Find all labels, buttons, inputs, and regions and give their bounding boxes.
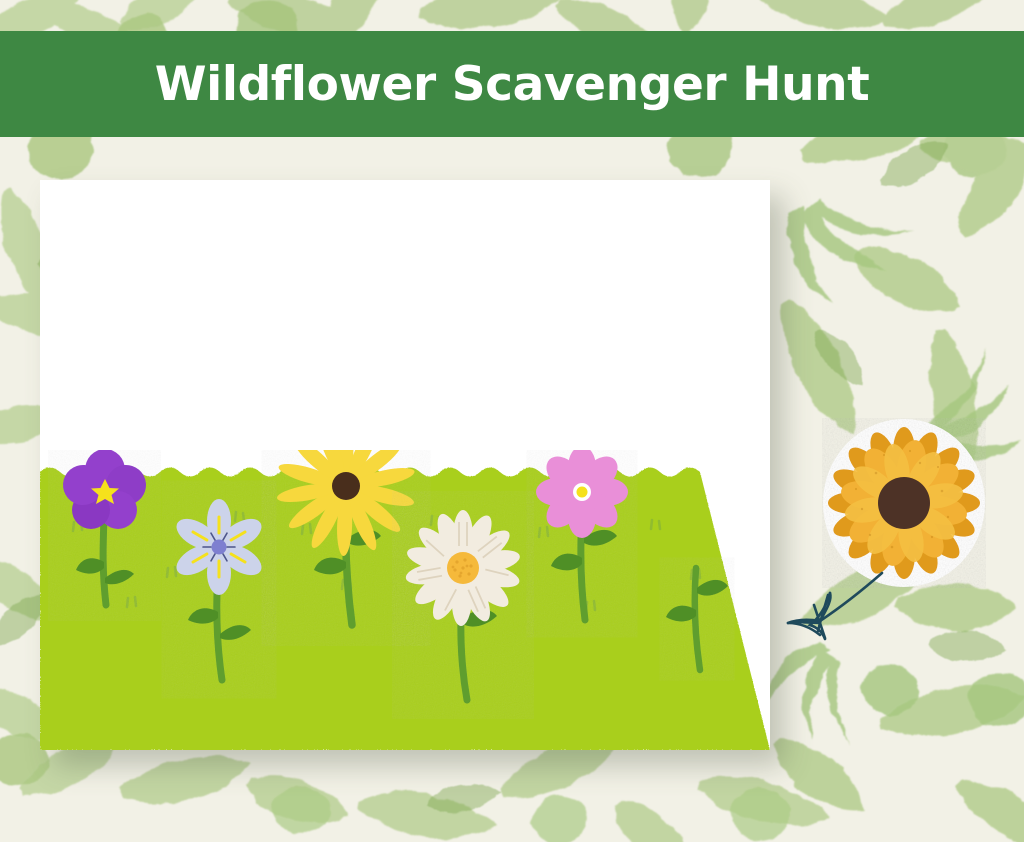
blank-worksheet-card[interactable] bbox=[40, 180, 770, 750]
flower-meadow-illustration bbox=[40, 450, 770, 750]
sunflower-center bbox=[878, 477, 930, 529]
page-title: Wildflower Scavenger Hunt bbox=[155, 61, 870, 108]
sunflower-sticker[interactable] bbox=[822, 418, 986, 588]
poster-canvas: Wildflower Scavenger Hunt bbox=[0, 0, 1024, 842]
title-banner: Wildflower Scavenger Hunt bbox=[0, 31, 1024, 137]
grass-strip bbox=[40, 468, 770, 751]
hand-drawn-arrow bbox=[770, 565, 900, 680]
